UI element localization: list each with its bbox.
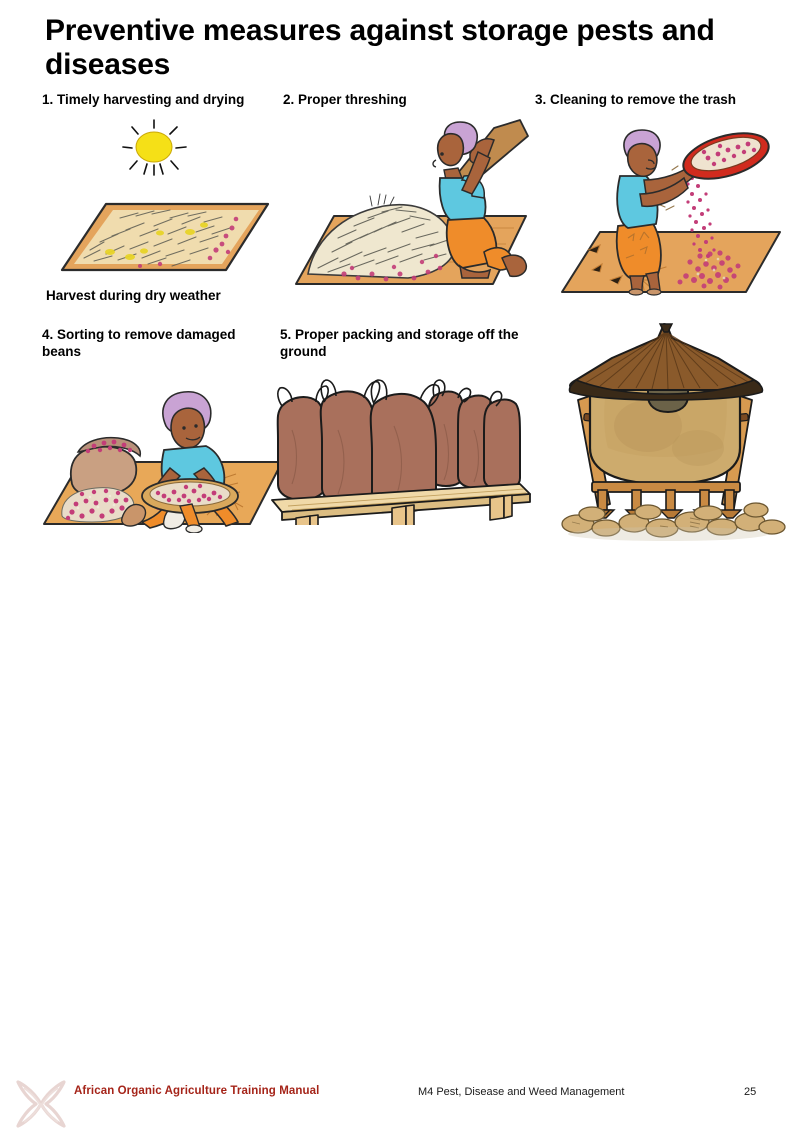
step-1-caption: 1. Timely harvesting and drying bbox=[42, 92, 267, 109]
step-2-caption: 2. Proper threshing bbox=[283, 92, 513, 109]
page-title: Preventive measures against storage pest… bbox=[45, 14, 775, 82]
illustration-winnowing bbox=[548, 110, 800, 300]
thatched-roof bbox=[569, 324, 762, 400]
winnowing-mat bbox=[562, 232, 780, 292]
slide-footer: African Organic Agriculture Training Man… bbox=[0, 542, 800, 600]
step-5-caption: 5. Proper packing and storage off the gr… bbox=[280, 327, 545, 361]
footer-page-number: 25 bbox=[744, 1086, 756, 1098]
footer-module-title: M4 Pest, Disease and Weed Management bbox=[418, 1086, 624, 1098]
footer-manual-title: African Organic Agriculture Training Man… bbox=[74, 1085, 319, 1097]
step-4-caption: 4. Sorting to remove damaged beans bbox=[42, 327, 267, 361]
illustration-threshing bbox=[288, 112, 538, 292]
slide: Preventive measures against storage pest… bbox=[0, 0, 800, 600]
x-butterfly-logo-icon bbox=[12, 1076, 70, 1132]
illustration-sacks-on-pallet bbox=[268, 360, 533, 525]
step-3-caption: 3. Cleaning to remove the trash bbox=[535, 92, 797, 109]
threshed-crop-pile bbox=[308, 194, 455, 281]
illustration-drying-mat bbox=[40, 118, 290, 283]
illustration-sorting bbox=[38, 368, 293, 533]
sun-icon bbox=[123, 120, 186, 175]
drying-mat bbox=[62, 204, 268, 270]
illustration-raised-granary bbox=[548, 318, 800, 543]
harvest-note: Harvest during dry weather bbox=[46, 288, 221, 303]
orange-skirt bbox=[617, 222, 661, 278]
